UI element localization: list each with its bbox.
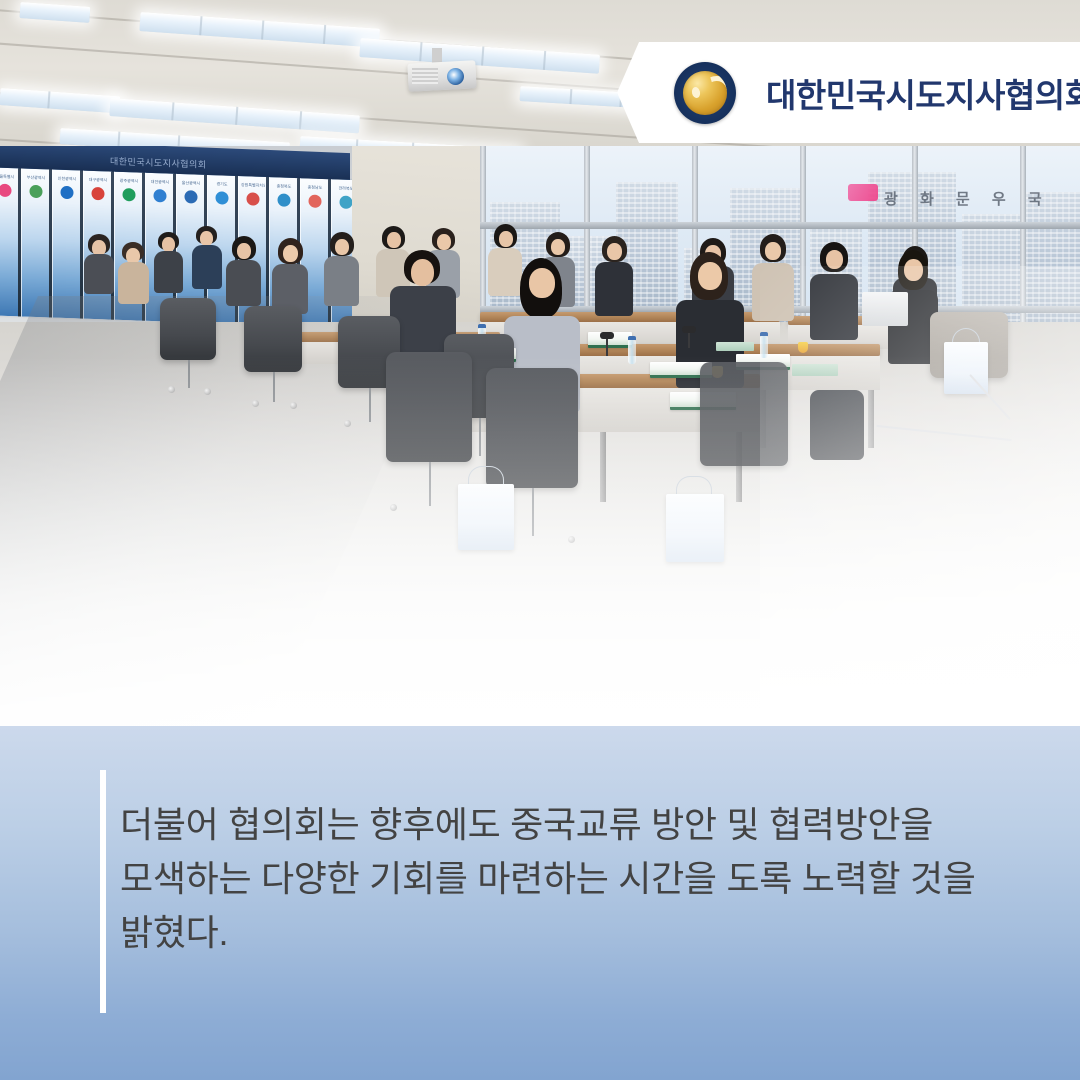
microphone-stem bbox=[606, 338, 608, 356]
office-chair bbox=[386, 352, 472, 462]
projector-vent bbox=[412, 68, 438, 84]
ceiling-light bbox=[19, 2, 90, 23]
logo-gold-emblem bbox=[683, 71, 727, 115]
bottle-cap bbox=[628, 336, 636, 340]
shopping-bag bbox=[458, 484, 514, 550]
banner-label: 대전광역시 bbox=[148, 179, 172, 185]
city-sign-accent bbox=[848, 184, 878, 201]
document-folder bbox=[792, 364, 838, 376]
projector-lens bbox=[447, 68, 464, 85]
banner-label: 서울특별시 bbox=[0, 173, 17, 179]
juice-cup bbox=[798, 342, 808, 353]
banner-label: 충청남도 bbox=[303, 184, 327, 190]
banner-label: 부산광역시 bbox=[24, 175, 48, 181]
banner-emblem-icon bbox=[309, 194, 322, 207]
banner-label: 강원특별자치도 bbox=[241, 182, 265, 188]
ceiling-light bbox=[359, 38, 600, 74]
banner-emblem-icon bbox=[340, 196, 353, 209]
ceiling-light bbox=[139, 12, 380, 48]
ceiling-light bbox=[0, 88, 120, 113]
bottle-cap bbox=[760, 332, 768, 336]
desk-leg bbox=[868, 390, 874, 448]
banner-emblem-icon bbox=[185, 190, 198, 203]
banner-label: 광주광역시 bbox=[117, 178, 141, 184]
desk-leg bbox=[600, 432, 606, 502]
header-banner: 대한민국시도지사협의회 bbox=[617, 42, 1080, 143]
caption-accent-rule bbox=[100, 770, 106, 1013]
bag-handle bbox=[676, 476, 712, 495]
banner-label: 울산광역시 bbox=[179, 180, 203, 186]
organization-title: 대한민국시도지사협의회 bbox=[766, 69, 1080, 117]
banner-emblem-icon bbox=[123, 188, 136, 201]
office-chair bbox=[244, 306, 302, 372]
banner-label: 충청북도 bbox=[272, 183, 296, 189]
meeting-room-scene: 대한민국시도지사협의회 서울특별시 부산광역시 인천광역시 대구광역시 광주광역… bbox=[0, 146, 1080, 726]
water-bottle bbox=[760, 336, 768, 358]
banner-emblem-icon bbox=[30, 185, 43, 198]
ceiling-light bbox=[109, 98, 360, 133]
caption-text: 더불어 협의회는 향후에도 중국교류 방안 및 협력방안을 모색하는 다양한 기… bbox=[120, 798, 1020, 960]
banner-emblem-icon bbox=[61, 186, 74, 199]
microphone bbox=[682, 326, 696, 333]
bag-handle bbox=[468, 466, 504, 485]
laptop bbox=[862, 292, 908, 326]
banner-label: 경기도 bbox=[210, 181, 234, 187]
water-bottle bbox=[628, 340, 636, 364]
banner-emblem-icon bbox=[154, 189, 167, 202]
shopping-bag bbox=[666, 494, 724, 562]
banner-label: 인천광역시 bbox=[55, 176, 79, 182]
banner-emblem-icon bbox=[247, 192, 260, 205]
office-chair bbox=[700, 362, 788, 466]
backpack bbox=[810, 390, 864, 460]
microphone bbox=[600, 332, 614, 339]
banner-emblem-icon bbox=[92, 187, 105, 200]
social-card: 대한민국시도지사협의회 서울특별시 부산광역시 인천광역시 대구광역시 광주광역… bbox=[0, 0, 1080, 1080]
banner-item: 서울특별시 bbox=[0, 167, 19, 316]
banner-label: 대구광역시 bbox=[86, 177, 110, 183]
banner-emblem-icon bbox=[278, 193, 291, 206]
banner-emblem-icon bbox=[216, 191, 229, 204]
banner-emblem-icon bbox=[0, 184, 12, 197]
microphone-stem bbox=[688, 332, 690, 348]
office-chair bbox=[160, 298, 216, 360]
association-seal-logo-icon bbox=[674, 62, 736, 124]
bottle-cap bbox=[478, 324, 486, 328]
document-folder bbox=[716, 342, 754, 351]
